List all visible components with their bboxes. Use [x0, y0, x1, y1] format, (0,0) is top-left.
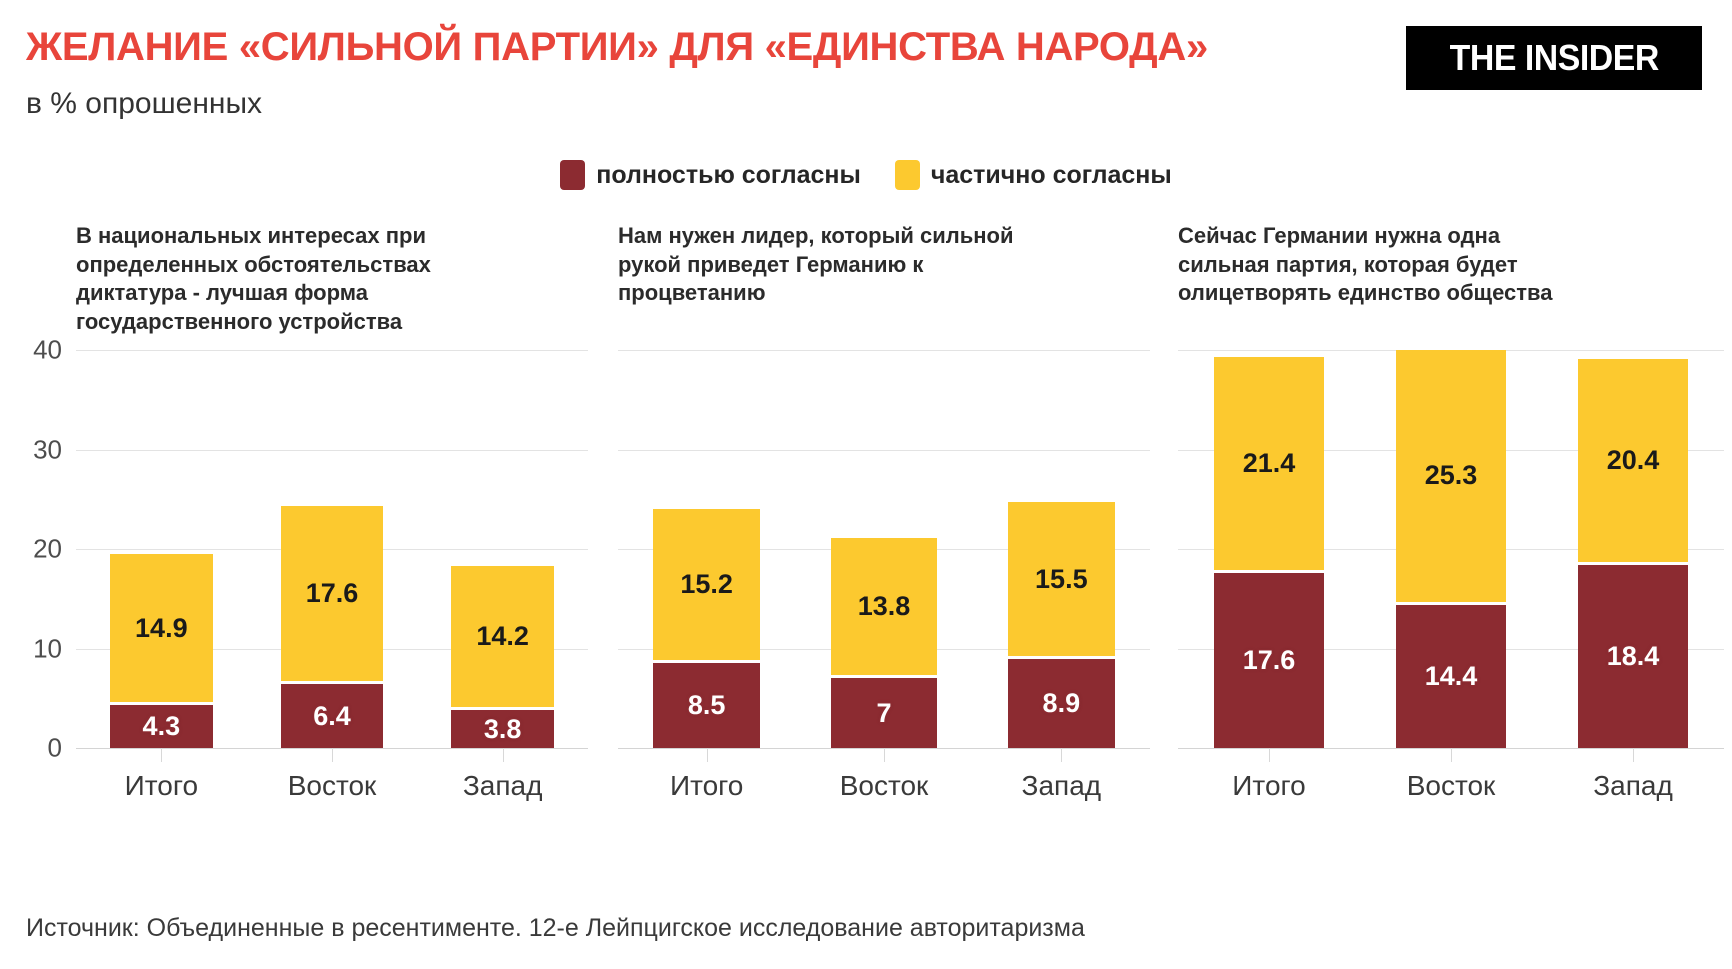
legend-item-partly-agree: частично согласны — [895, 160, 1172, 190]
bar-segment-fully-agree[interactable]: 8.9 — [1008, 659, 1114, 748]
xtick-mark-Восток — [884, 748, 885, 762]
xtick-label-Восток: Восток — [1407, 770, 1496, 802]
chart-panels: В национальных интересах при определенны… — [0, 222, 1732, 877]
chart-panel-1-xaxis: ИтогоВостокЗапад — [618, 748, 1150, 818]
ytick-label-0: 0 — [48, 733, 62, 764]
xtick-label-Итого: Итого — [1232, 770, 1305, 802]
legend-swatch-partly-agree — [895, 160, 920, 190]
ytick-label-40: 40 — [33, 335, 62, 366]
xtick-mark-Запад — [1633, 748, 1634, 762]
bar-segment-partly-agree[interactable]: 20.4 — [1578, 359, 1687, 565]
bar-segment-partly-agree[interactable]: 15.2 — [653, 509, 759, 663]
bar-segment-partly-agree[interactable]: 14.2 — [451, 566, 553, 710]
chart-legend: полностью согласны частично согласны — [0, 160, 1732, 190]
bar-segment-partly-agree[interactable]: 25.3 — [1396, 350, 1505, 605]
bar-value-label: 14.4 — [1425, 661, 1478, 692]
bar-value-label: 21.4 — [1243, 448, 1296, 479]
bar-group-Восток[interactable]: 14.425.3 — [1396, 350, 1505, 748]
bar-value-label: 15.2 — [680, 569, 733, 600]
bar-value-label: 6.4 — [313, 701, 351, 732]
ytick-label-10: 10 — [33, 633, 62, 664]
chart-panel-1-plot: 8.515.2713.88.915.5 — [618, 350, 1150, 748]
bar-segment-partly-agree[interactable]: 13.8 — [831, 538, 937, 678]
ytick-label-20: 20 — [33, 534, 62, 565]
xtick-mark-Восток — [332, 748, 333, 762]
xtick-label-Запад: Запад — [1593, 770, 1673, 802]
bar-group-Запад[interactable]: 8.915.5 — [1008, 350, 1114, 748]
bar-segment-partly-agree[interactable]: 21.4 — [1214, 357, 1323, 573]
chart-panel-2-xaxis: ИтогоВостокЗапад — [1178, 748, 1724, 818]
xtick-label-Восток: Восток — [840, 770, 929, 802]
xtick-mark-Запад — [503, 748, 504, 762]
chart-panel-0-plot: 0102030404.314.96.417.63.814.2 — [76, 350, 588, 748]
xtick-label-Запад: Запад — [1022, 770, 1102, 802]
page-subtitle: в % опрошенных — [26, 87, 262, 121]
chart-panel-2-plot: 17.621.414.425.318.420.4 — [1178, 350, 1724, 748]
bar-value-label: 17.6 — [1243, 645, 1296, 676]
bar-value-label: 8.9 — [1043, 688, 1081, 719]
bar-value-label: 18.4 — [1607, 641, 1660, 672]
legend-item-fully-agree: полностью согласны — [560, 160, 861, 190]
bar-value-label: 14.2 — [476, 621, 529, 652]
bar-segment-fully-agree[interactable]: 17.6 — [1214, 573, 1323, 748]
bar-segment-partly-agree[interactable]: 14.9 — [110, 554, 212, 705]
bar-value-label: 7 — [876, 698, 891, 729]
bar-segment-fully-agree[interactable]: 18.4 — [1578, 565, 1687, 748]
xtick-label-Запад: Запад — [463, 770, 543, 802]
bar-value-label: 8.5 — [688, 690, 726, 721]
publisher-logo: THE INSIDER — [1406, 26, 1702, 90]
ytick-label-30: 30 — [33, 434, 62, 465]
bar-segment-partly-agree[interactable]: 17.6 — [281, 506, 383, 684]
chart-panel-2-title: Сейчас Германии нужна одна сильная парти… — [1178, 222, 1724, 308]
xtick-mark-Итого — [1269, 748, 1270, 762]
bar-segment-fully-agree[interactable]: 14.4 — [1396, 605, 1505, 748]
chart-panel-2: Сейчас Германии нужна одна сильная парти… — [1178, 222, 1732, 877]
bar-group-Итого[interactable]: 4.314.9 — [110, 350, 212, 748]
chart-panel-1-title: Нам нужен лидер, который сильной рукой п… — [618, 222, 1150, 308]
xtick-label-Итого: Итого — [125, 770, 198, 802]
bar-value-label: 15.5 — [1035, 564, 1088, 595]
bar-value-label: 14.9 — [135, 613, 188, 644]
bar-group-Восток[interactable]: 6.417.6 — [281, 350, 383, 748]
xtick-mark-Восток — [1451, 748, 1452, 762]
bar-value-label: 17.6 — [306, 578, 359, 609]
bar-group-Запад[interactable]: 3.814.2 — [451, 350, 553, 748]
chart-panel-0-xaxis: ИтогоВостокЗапад — [76, 748, 588, 818]
bar-group-Итого[interactable]: 8.515.2 — [653, 350, 759, 748]
xtick-label-Итого: Итого — [670, 770, 743, 802]
bar-segment-fully-agree[interactable]: 6.4 — [281, 684, 383, 748]
chart-panel-0: В национальных интересах при определенны… — [18, 222, 596, 877]
bar-group-Запад[interactable]: 18.420.4 — [1578, 350, 1687, 748]
source-note: Источник: Объединенные в ресентименте. 1… — [26, 914, 1085, 943]
bar-segment-fully-agree[interactable]: 7 — [831, 678, 937, 748]
bar-segment-partly-agree[interactable]: 15.5 — [1008, 502, 1114, 659]
bar-segment-fully-agree[interactable]: 3.8 — [451, 710, 553, 748]
bar-value-label: 13.8 — [858, 591, 911, 622]
xtick-label-Восток: Восток — [288, 770, 377, 802]
publisher-logo-text: THE INSIDER — [1449, 37, 1658, 79]
bar-group-Итого[interactable]: 17.621.4 — [1214, 350, 1323, 748]
xtick-mark-Итого — [161, 748, 162, 762]
bar-segment-fully-agree[interactable]: 4.3 — [110, 705, 212, 748]
bar-segment-fully-agree[interactable]: 8.5 — [653, 663, 759, 748]
chart-panel-0-title: В национальных интересах при определенны… — [76, 222, 588, 336]
bar-value-label: 4.3 — [143, 711, 181, 742]
bar-value-label: 3.8 — [484, 714, 522, 745]
chart-panel-1: Нам нужен лидер, который сильной рукой п… — [618, 222, 1158, 877]
legend-label-fully-agree: полностью согласны — [596, 161, 861, 190]
legend-swatch-fully-agree — [560, 160, 585, 190]
bar-group-Восток[interactable]: 713.8 — [831, 350, 937, 748]
bar-value-label: 25.3 — [1425, 460, 1478, 491]
xtick-mark-Запад — [1061, 748, 1062, 762]
bar-value-label: 20.4 — [1607, 445, 1660, 476]
legend-label-partly-agree: частично согласны — [931, 161, 1172, 190]
page-header: ЖЕЛАНИЕ «СИЛЬНОЙ ПАРТИИ» ДЛЯ «ЕДИНСТВА Н… — [0, 0, 1732, 145]
xtick-mark-Итого — [707, 748, 708, 762]
page-title: ЖЕЛАНИЕ «СИЛЬНОЙ ПАРТИИ» ДЛЯ «ЕДИНСТВА Н… — [26, 26, 1208, 68]
